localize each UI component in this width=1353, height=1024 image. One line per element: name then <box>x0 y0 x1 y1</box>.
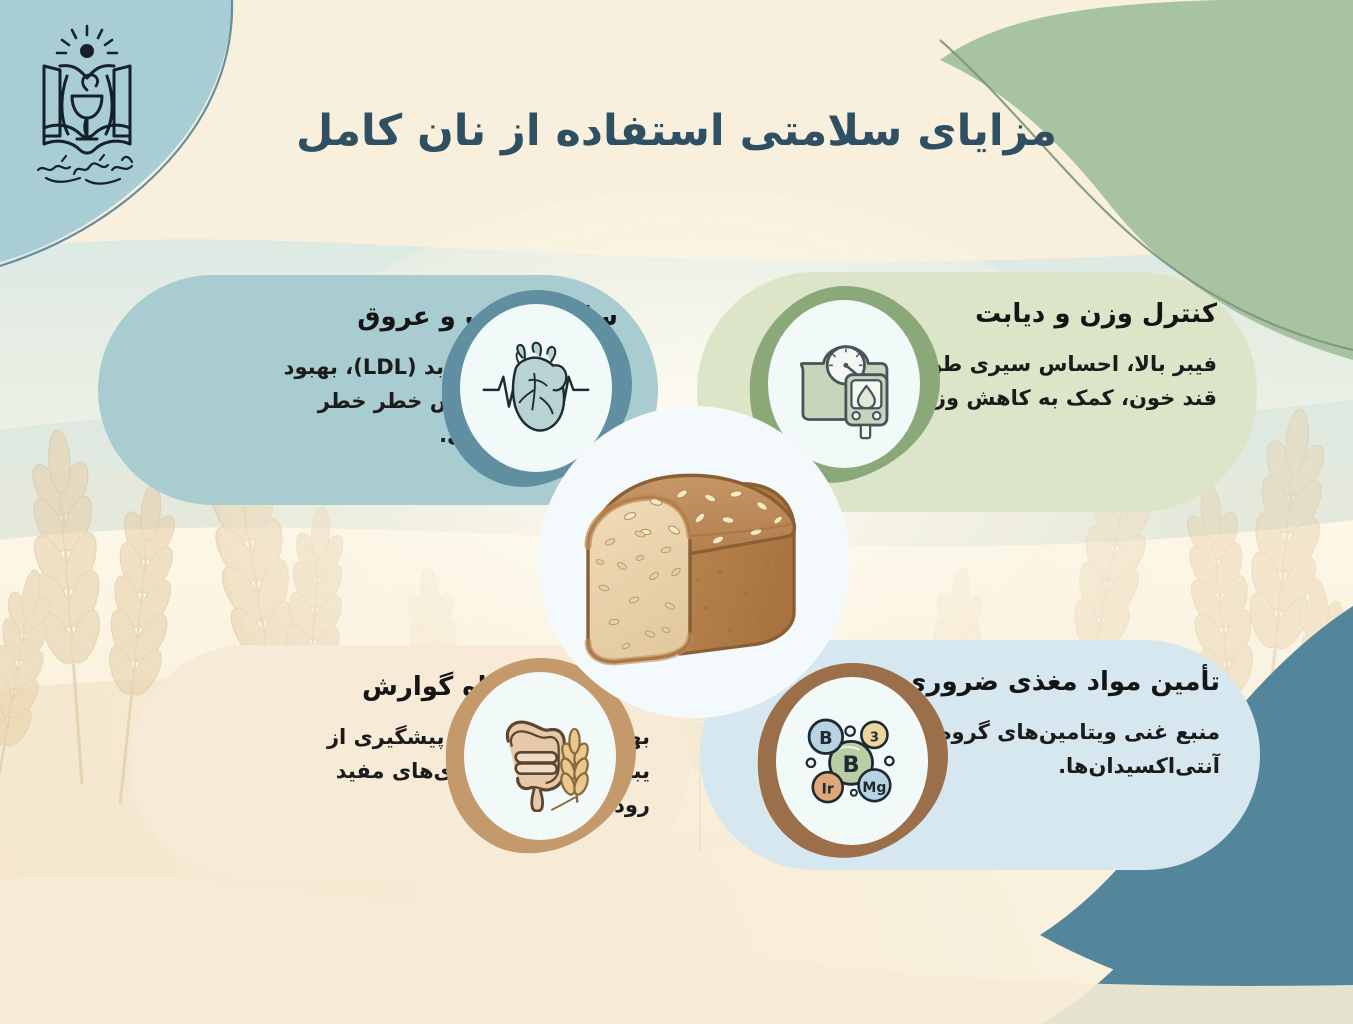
intestines-with-wheat-stalk-icon <box>484 700 596 812</box>
whole-grain-bread-loaf-icon <box>570 454 818 669</box>
bubble-label-b-top: B <box>819 729 833 749</box>
vitamin-mineral-bubbles-icon: B B 3 Ir Mg <box>796 705 908 817</box>
center-bread-medallion <box>544 412 844 712</box>
bubble-label-ir: Ir <box>822 782 834 798</box>
bubble-label-three: 3 <box>870 730 879 745</box>
page-title: مزایای سلامتی استفاده از نان کامل <box>0 106 1353 156</box>
infographic-canvas: مزایای سلامتی استفاده از نان کامل سلامت … <box>0 0 1353 1024</box>
bubble-label-b-center: B <box>843 752 860 778</box>
bubble-label-mg: Mg <box>862 780 886 796</box>
